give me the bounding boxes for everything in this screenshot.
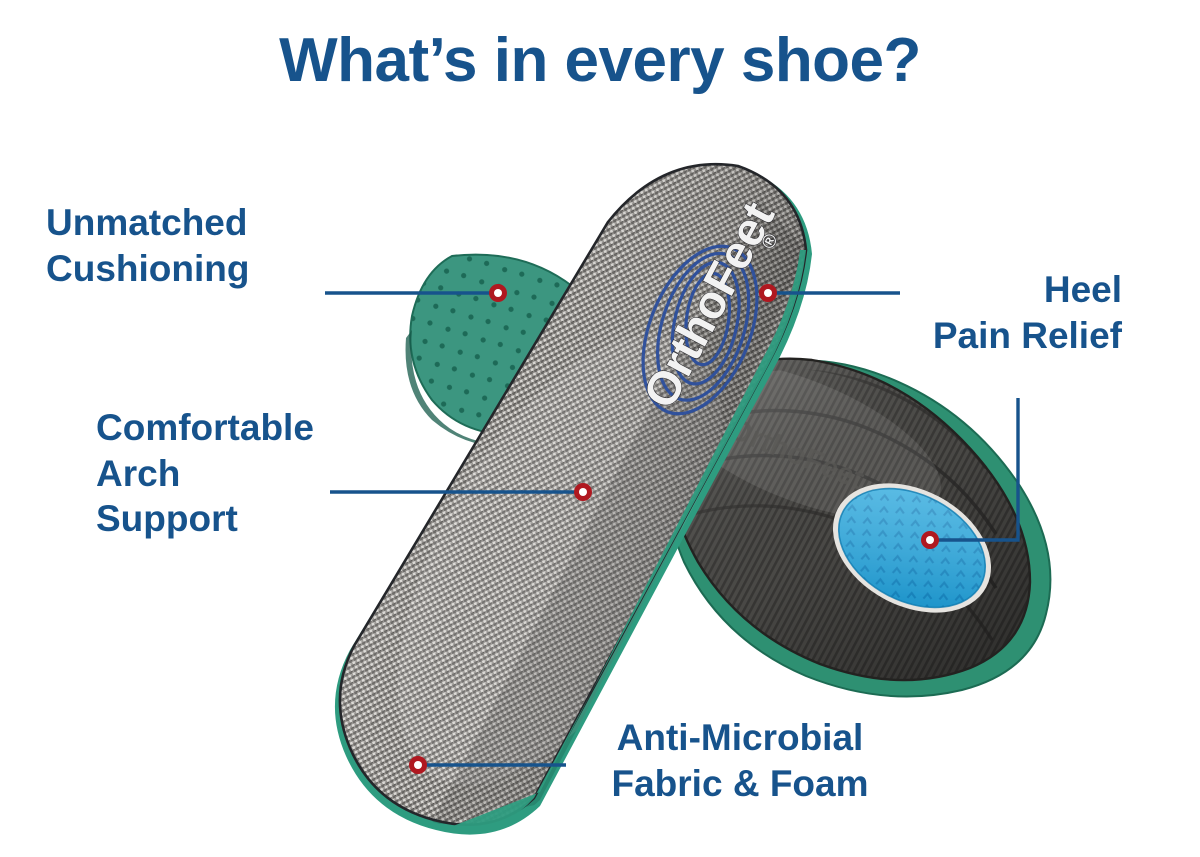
marker-heel[interactable] — [921, 531, 939, 549]
infographic-canvas: What’s in every shoe? Unmatched Cushioni… — [0, 0, 1200, 857]
marker-heel-stub[interactable] — [759, 284, 777, 302]
marker-cushioning[interactable] — [489, 284, 507, 302]
marker-arch[interactable] — [574, 483, 592, 501]
marker-fabric[interactable] — [409, 756, 427, 774]
product-illustration: OrthoFeet — [0, 0, 1200, 857]
